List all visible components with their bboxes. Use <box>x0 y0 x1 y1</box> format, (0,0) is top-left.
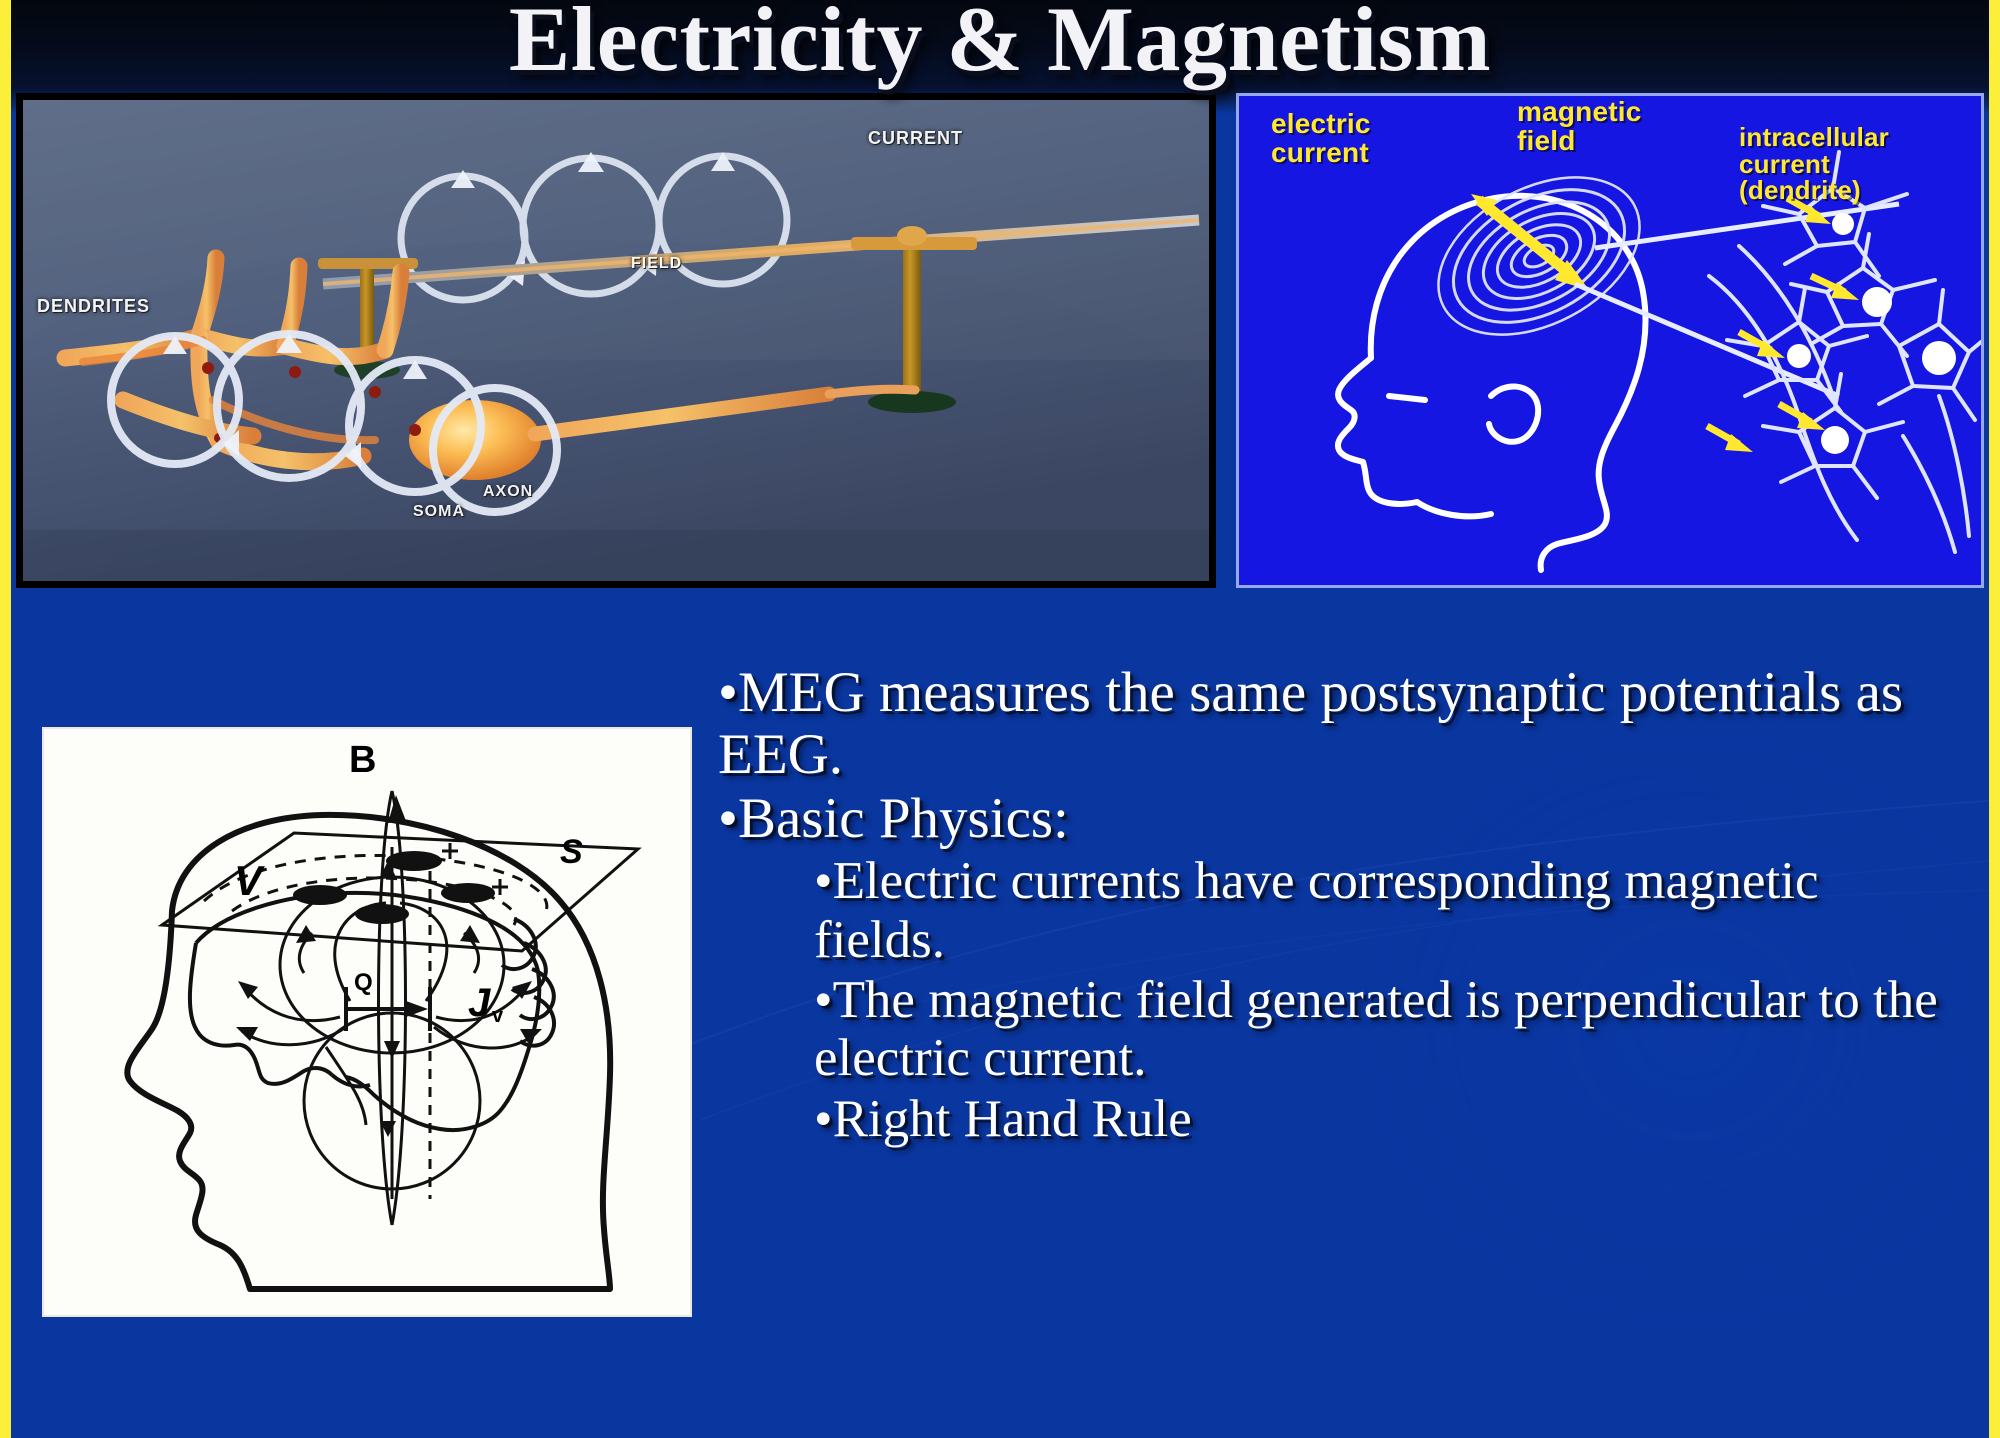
sub-bullet-item-perpendicular: •The magnetic field generated is perpend… <box>718 971 1948 1088</box>
bullet-marker: • <box>814 1090 833 1148</box>
bullet-marker: • <box>814 852 833 910</box>
head-magnetic-field-figure: electric current magnetic field intracel… <box>1236 93 1984 588</box>
diagram-label-b: B <box>349 739 376 782</box>
right-yellow-rail <box>1989 0 2000 1438</box>
bullet-marker: • <box>814 971 833 1029</box>
bullet-item-meg: •MEG measures the same postsynaptic pote… <box>718 662 1948 786</box>
neuron-photo-artwork <box>23 100 1209 581</box>
sub-bullet-item-right-hand-rule: •Right Hand Rule <box>718 1090 1948 1148</box>
slide-title: Electricity & Magnetism <box>0 0 2000 92</box>
bullet-marker: • <box>718 661 738 724</box>
meg-head-diagram: B S V Q J v <box>42 727 692 1317</box>
label-intracellular-current-dendrite: intracellular current (dendrite) <box>1739 124 1889 204</box>
label-electric-current: electric current <box>1271 110 1371 167</box>
diagram-label-v: V <box>234 857 262 905</box>
neuron-magnetic-field-photo: DENDRITES CURRENT FIELD SOMA AXON <box>16 93 1216 588</box>
bullet-marker: • <box>718 787 738 850</box>
sub-bullet-text: The magnetic field generated is perpendi… <box>814 971 1938 1087</box>
bullet-list: •MEG measures the same postsynaptic pote… <box>718 662 1948 1150</box>
slide-canvas: Electricity & Magnetism <box>0 0 2000 1438</box>
photo-label-axon: AXON <box>483 483 533 501</box>
photo-label-dendrites: DENDRITES <box>37 296 150 317</box>
photo-label-field: FIELD <box>631 255 682 273</box>
bullet-text: Basic Physics: <box>738 787 1069 850</box>
photo-label-soma: SOMA <box>413 503 465 521</box>
label-magnetic-field: magnetic field <box>1517 98 1642 155</box>
diagram-label-j-subscript: v <box>492 1005 503 1028</box>
left-yellow-rail <box>0 0 11 1438</box>
sub-bullet-item-electric-currents: •Electric currents have corresponding ma… <box>718 852 1948 969</box>
diagram-label-s: S <box>560 833 583 872</box>
photo-label-current: CURRENT <box>868 128 963 149</box>
bullet-item-basic-physics: •Basic Physics: <box>718 788 1948 850</box>
sub-bullet-text: Right Hand Rule <box>833 1090 1192 1148</box>
bullet-text: MEG measures the same postsynaptic poten… <box>718 661 1903 786</box>
diagram-label-j: J <box>468 981 490 1026</box>
diagram-label-q: Q <box>354 969 373 997</box>
sub-bullet-text: Electric currents have corresponding mag… <box>814 852 1819 968</box>
meg-head-diagram-artwork <box>44 729 690 1315</box>
